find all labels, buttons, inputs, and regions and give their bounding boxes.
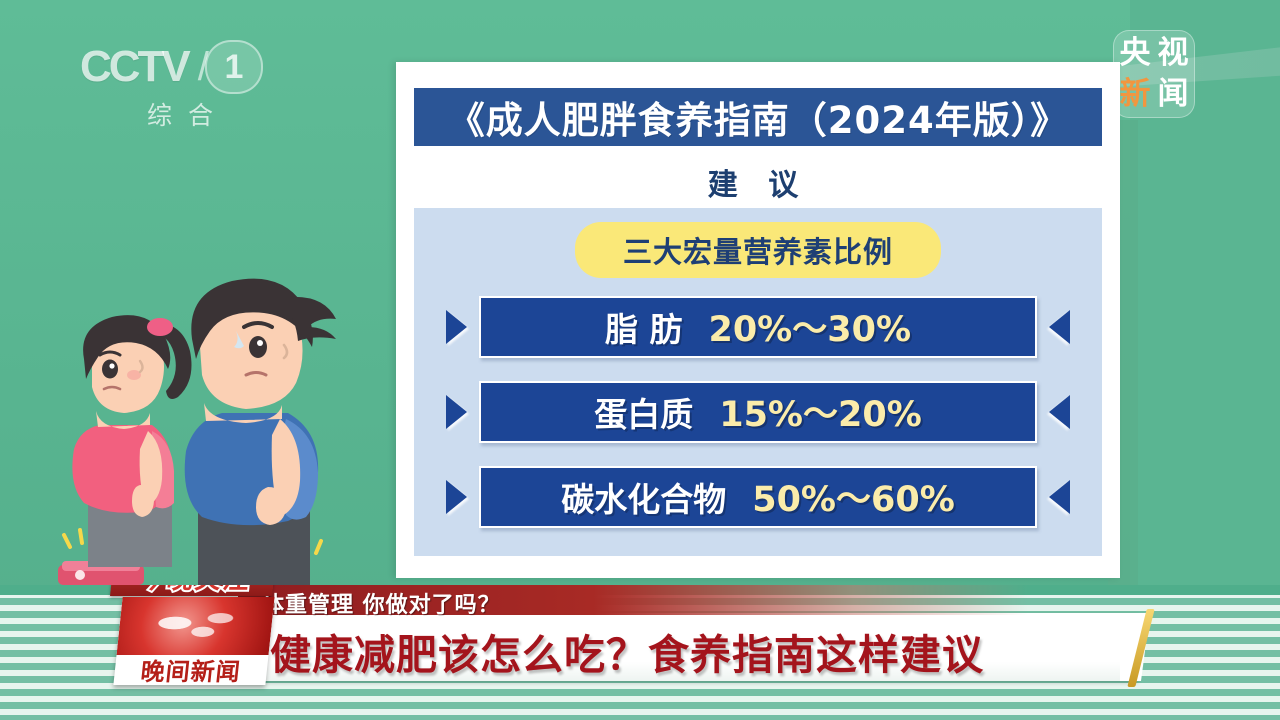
cctv-news-logo: 央 视 新 闻 [1113,30,1195,118]
news-logo-char-1: 央 [1120,38,1151,69]
nutrient-value: 15%～20% [719,386,922,437]
program-badge: 晚间新闻 [113,597,274,685]
nutrient-bar-carbohydrate: 碳水化合物 50%～60% [479,466,1037,528]
table-row: 碳水化合物 50%～60% [414,460,1102,533]
card-title-bar: 《成人肥胖食养指南（2024年版）》 [412,86,1104,148]
news-logo-char-2: 视 [1158,38,1189,69]
nutrient-panel: 三大宏量营养素比例 脂 肪 20%～30% 蛋白质 15%～20% [414,208,1102,556]
nutrient-label: 脂 肪 [605,303,683,351]
arrow-right-icon [446,310,467,344]
guideline-card: 《成人肥胖食养指南（2024年版）》 建 议 三大宏量营养素比例 脂 肪 20%… [396,62,1120,578]
news-logo-char-3: 新 [1120,79,1151,110]
cctv-wordmark: CCTV [80,42,188,92]
nutrient-bar-fat: 脂 肪 20%～30% [479,296,1037,358]
broadcast-screen: CCTV / 1 综合 央 视 新 闻 [0,0,1280,720]
arrow-right-icon [446,480,467,514]
overweight-couple-illustration [40,235,360,600]
lower-third-banner: 健康减肥该怎么吃？食养指南这样建议 体重管理 你做对了吗？ 今晚关注 晚间新闻 [0,585,1280,720]
nutrient-label: 蛋白质 [594,388,693,436]
cctv-channel-watermark: CCTV / 1 综合 [80,40,290,150]
nutrient-value: 20%～30% [708,301,911,352]
arrow-right-icon [446,395,467,429]
cartoon-woman [72,315,191,567]
page-title: 《成人肥胖食养指南（2024年版）》 [448,90,1068,144]
nutrient-row-list: 脂 肪 20%～30% 蛋白质 15%～20% 碳水 [414,290,1102,545]
nutrient-label: 碳水化合物 [561,473,726,521]
panel-heading-pill: 三大宏量营养素比例 [575,222,941,278]
cctv-logo-row: CCTV / 1 [80,40,290,94]
arrow-left-icon [1049,395,1070,429]
globe-icon [117,597,275,655]
cartoon-man [185,279,336,585]
nutrient-value: 50%～60% [752,471,955,522]
arrow-left-icon [1049,480,1070,514]
program-name-label: 晚间新闻 [113,653,268,685]
table-row: 蛋白质 15%～20% [414,375,1102,448]
cctv-channel-number: 1 [205,40,263,94]
news-logo-char-4: 闻 [1158,79,1189,110]
segment-badge-label: 今晚关注 [118,585,272,596]
subtitle-text: 体重管理 你做对了吗？ [262,587,501,619]
arrow-left-icon [1049,310,1070,344]
headline-text: 健康减肥该怎么吃？食养指南这样建议 [270,621,1150,681]
cctv-channel-name: 综合 [86,96,290,132]
table-row: 脂 肪 20%～30% [414,290,1102,363]
card-subtitle: 建 议 [396,160,1120,204]
nutrient-bar-protein: 蛋白质 15%～20% [479,381,1037,443]
